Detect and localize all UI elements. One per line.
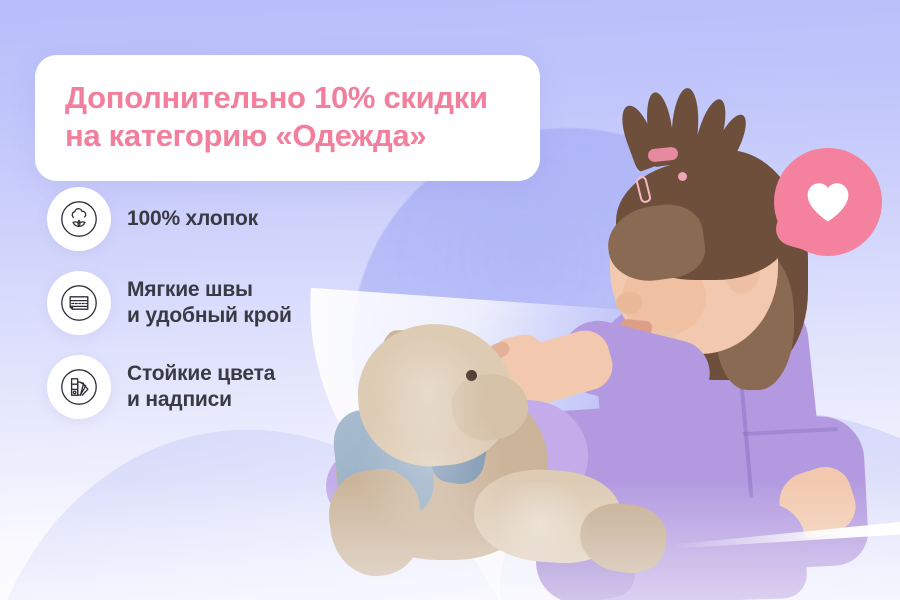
cotton-flower-icon [47,187,111,251]
heart-icon [774,148,882,256]
feature-item-cotton: 100% хлопок [47,186,377,252]
headline-line-2: на категорию «Одежда» [65,117,510,155]
feature-line-1: 100% хлопок [127,207,258,230]
feature-text-seams: Мягкие швы и удобный крой [127,277,292,330]
fabric-seam-icon [47,271,111,335]
color-swatch-icon [47,355,111,419]
feature-text-colors: Стойкие цвета и надписи [127,361,275,414]
feature-line-1: Стойкие цвета [127,362,275,385]
feature-line-1: Мягкие швы [127,278,253,301]
headline-line-1: Дополнительно 10% скидки [65,79,510,117]
headline-card: Дополнительно 10% скидки на категорию «О… [35,55,540,181]
feature-item-colors: Стойкие цвета и надписи [47,354,377,420]
heart-badge [774,148,882,256]
photo-bottom-fade [0,480,900,600]
feature-line-2: и удобный крой [127,303,292,329]
child-nose [616,292,642,314]
feature-text-cotton: 100% хлопок [127,206,258,232]
feature-list: 100% хлопок Мягкие швы и удобный крой [47,186,377,438]
feature-item-seams: Мягкие швы и удобный крой [47,270,377,336]
feature-line-2: и надписи [127,387,275,413]
promo-banner: Дополнительно 10% скидки на категорию «О… [0,0,900,600]
hair-clip-round-icon [678,172,687,181]
